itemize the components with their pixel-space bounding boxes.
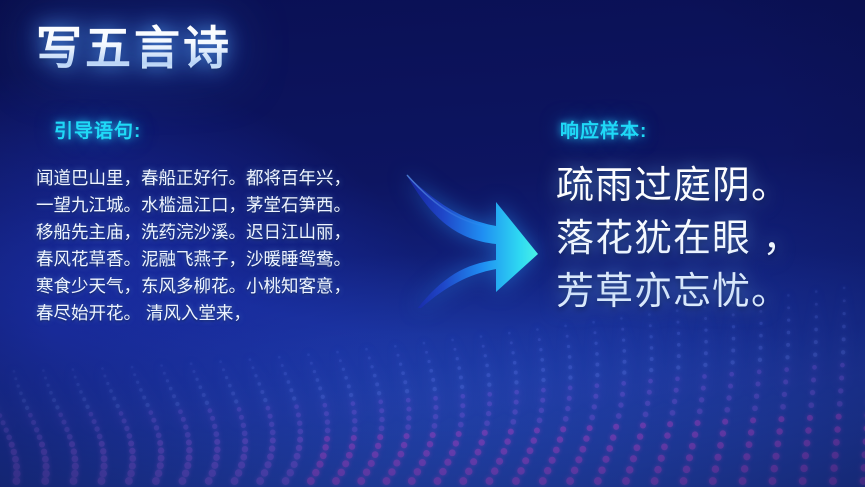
prompt-heading: 引导语句: [54,116,141,143]
right-arrow-svg [404,168,544,308]
slide-canvas: 写五言诗 引导语句: 闻道巴山里，春船正好行。都将百年兴， 一望九江城。水槛温江… [0,0,865,487]
page-title: 写五言诗 [36,22,232,75]
prompt-text: 闻道巴山里，春船正好行。都将百年兴， 一望九江城。水槛温江口，茅堂石笋西。 移船… [36,165,416,327]
response-heading: 响应样本: [560,116,647,143]
right-arrow-icon [404,168,544,308]
response-text: 疏雨过庭阴。 落花犹在眼 ， 芳草亦忘忧。 [556,160,856,319]
